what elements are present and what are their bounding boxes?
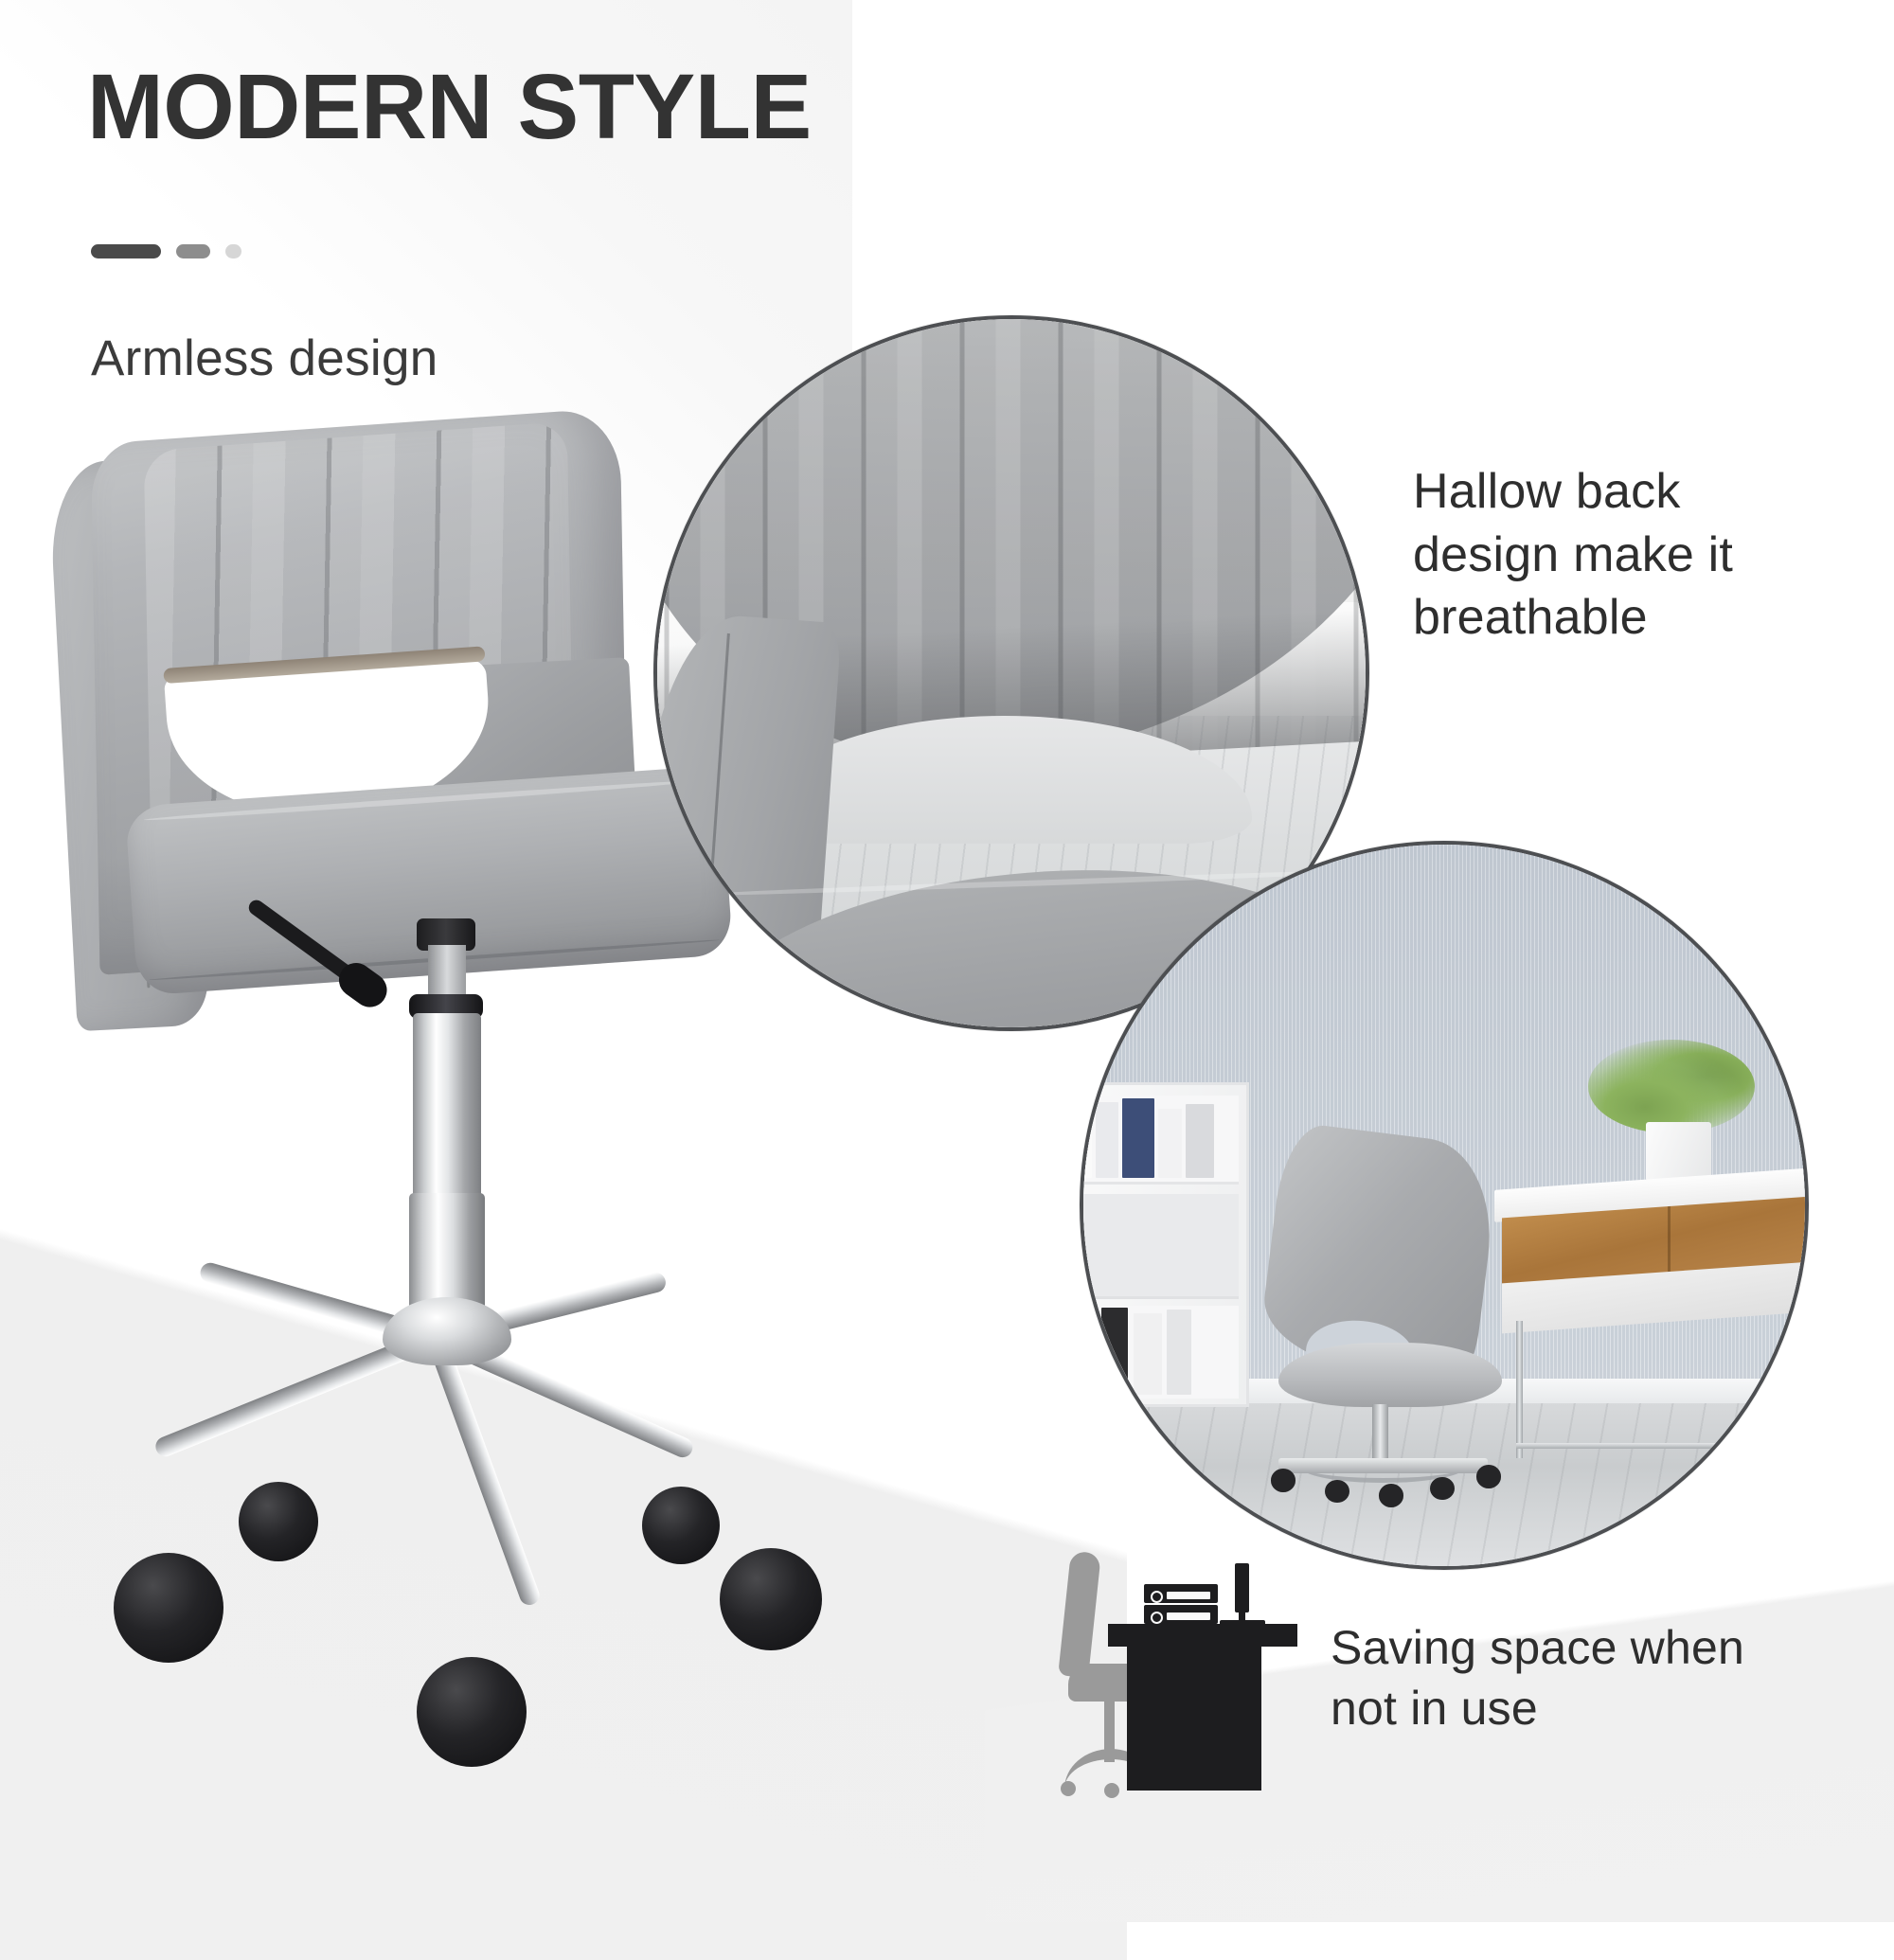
- book: [1080, 1106, 1092, 1179]
- book: [1134, 1313, 1162, 1395]
- icon-caster-2: [1104, 1783, 1119, 1798]
- caster-wheel-4: [642, 1487, 720, 1564]
- page-subtitle: Armless design: [91, 330, 438, 387]
- room-caster-wheel-5: [1476, 1465, 1501, 1488]
- book: [1158, 1109, 1183, 1178]
- room-desk-leg-2: [1797, 1292, 1804, 1451]
- book: [1080, 1311, 1096, 1395]
- feature-caption-saving-space: Saving space when not in use: [1331, 1617, 1823, 1738]
- book: [1101, 1308, 1128, 1395]
- bookshelf-row-middle-panel: [1080, 1194, 1239, 1299]
- icon-binder-1: [1144, 1584, 1218, 1603]
- icon-binder-2: [1144, 1605, 1218, 1624]
- icon-caster-1: [1061, 1781, 1076, 1796]
- room-chair-seat: [1278, 1343, 1502, 1408]
- room-caster-wheel-2: [1325, 1480, 1349, 1503]
- book: [1167, 1310, 1191, 1395]
- feature-inset-saving-space: [1080, 841, 1809, 1570]
- caster-wheel-5: [720, 1548, 822, 1650]
- desk-with-chair-icon: [1059, 1529, 1324, 1804]
- divider-dash-short: [176, 244, 210, 258]
- room-desk-rail: [1516, 1443, 1805, 1449]
- caster-wheel-3: [417, 1657, 527, 1767]
- book: [1186, 1104, 1214, 1179]
- room-caster-wheel-3: [1379, 1484, 1403, 1506]
- gas-lift-cylinder-upper: [413, 1013, 481, 1203]
- icon-monitor-screen: [1235, 1563, 1249, 1613]
- book: [1096, 1102, 1118, 1178]
- room-caster-wheel-4: [1430, 1477, 1455, 1500]
- room-plant-foliage: [1588, 1040, 1754, 1133]
- bookshelf-row-top: [1080, 1096, 1239, 1185]
- decorative-divider: [91, 244, 241, 258]
- room-chair-base: [1278, 1458, 1488, 1474]
- room-plant-pot: [1646, 1122, 1711, 1184]
- icon-desk-top: [1108, 1624, 1297, 1647]
- caster-wheel-2: [239, 1482, 318, 1561]
- inset-photo-room-scene: [1083, 845, 1805, 1566]
- feature-caption-hallow-back: Hallow back design make it breathable: [1413, 460, 1830, 650]
- caster-wheel-1: [114, 1553, 223, 1663]
- base-center-hub: [383, 1297, 511, 1365]
- bookshelf-row-bottom: [1080, 1306, 1239, 1399]
- room-caster-wheel-1: [1271, 1469, 1295, 1491]
- icon-chair-back: [1058, 1551, 1101, 1679]
- room-bookshelf: [1080, 1082, 1249, 1407]
- book: [1122, 1098, 1154, 1178]
- icon-desk-body: [1127, 1647, 1261, 1791]
- room-desk-leg-1: [1516, 1321, 1523, 1458]
- divider-dot: [225, 244, 241, 258]
- divider-dash-long: [91, 244, 161, 258]
- page-title: MODERN STYLE: [87, 59, 812, 155]
